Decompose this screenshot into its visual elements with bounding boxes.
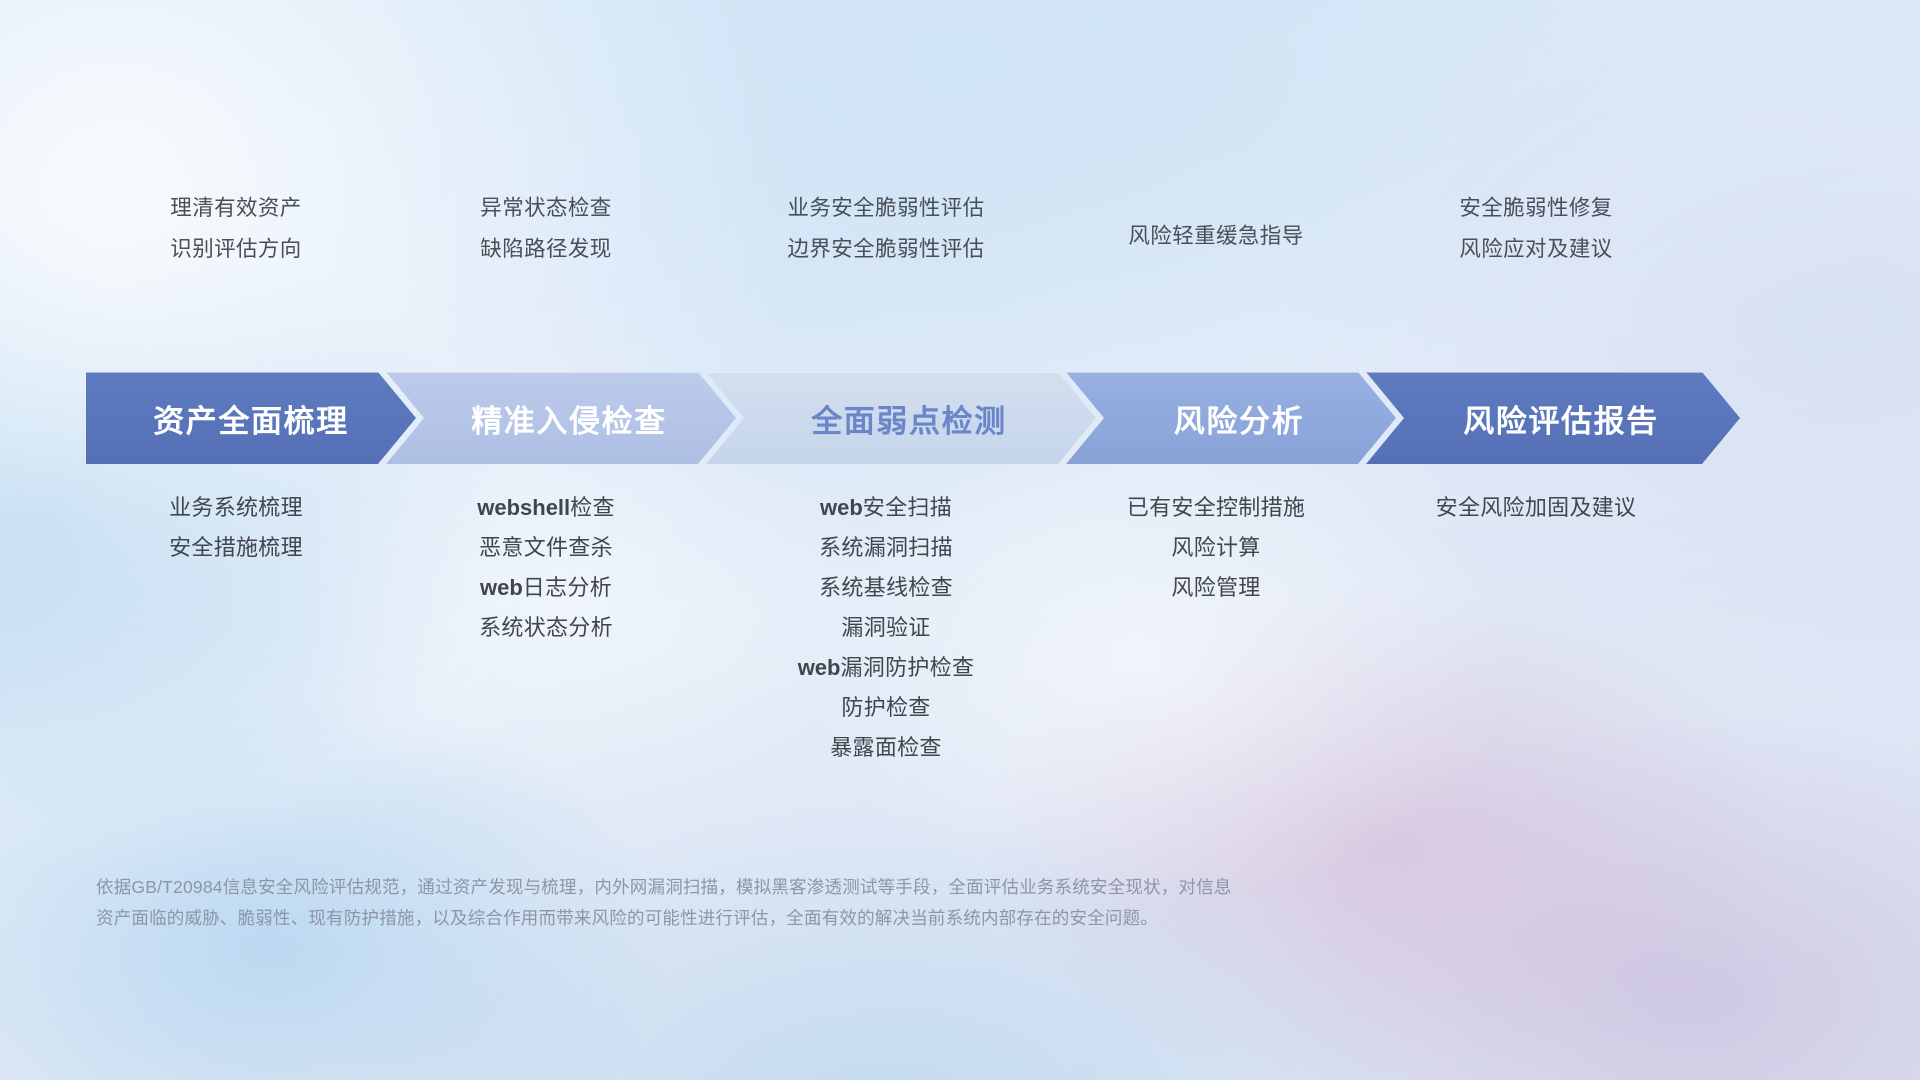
list-item-zh: 业务系统梳理 <box>169 495 303 520</box>
top-note: 缺陷路径发现 <box>386 229 706 270</box>
footer-description: 依据GB/T20984信息安全风险评估规范，通过资产发现与梳理，内外网漏洞扫描，… <box>96 872 1616 934</box>
top-note: 风险轻重缓急指导 <box>1066 216 1366 257</box>
list-item: 风险计算 <box>1066 528 1366 568</box>
list-item: web安全扫描 <box>706 488 1066 528</box>
list-item: 安全措施梳理 <box>86 528 386 568</box>
chevron-label: 风险分析 <box>1158 396 1304 441</box>
list-item-zh: 防护检查 <box>841 695 930 720</box>
chevron-intrusion-check[interactable]: 精准入侵检查 <box>386 372 736 464</box>
footer-line-2: 资产面临的威胁、脆弱性、现有防护措施，以及综合作用而带来风险的可能性进行评估，全… <box>96 903 1616 934</box>
list-item-en: web <box>798 655 841 680</box>
footer-line-1: 依据GB/T20984信息安全风险评估规范，通过资产发现与梳理，内外网漏洞扫描，… <box>96 872 1616 903</box>
list-item-zh: 安全措施梳理 <box>169 535 303 560</box>
list-item-zh: 检查 <box>570 495 615 520</box>
list-item: 已有安全控制措施 <box>1066 488 1366 528</box>
list-item-zh: 漏洞防护检查 <box>840 655 974 680</box>
list-item: 业务系统梳理 <box>86 488 386 528</box>
chevron-risk-report[interactable]: 风险评估报告 <box>1366 372 1740 464</box>
list-item: web日志分析 <box>386 568 706 608</box>
list-item-zh: 日志分析 <box>523 575 612 600</box>
list-item: 安全风险加固及建议 <box>1366 488 1706 528</box>
top-notes-risk-report: 安全脆弱性修复风险应对及建议 <box>1366 188 1706 270</box>
top-note: 边界安全脆弱性评估 <box>706 229 1066 270</box>
list-item-zh: 系统漏洞扫描 <box>819 535 953 560</box>
detail-list-risk-report: 安全风险加固及建议 <box>1366 488 1706 528</box>
list-item: 防护检查 <box>706 688 1066 728</box>
detail-list-risk-analysis: 已有安全控制措施风险计算风险管理 <box>1066 488 1366 608</box>
process-infographic: 理清有效资产识别评估方向异常状态检查缺陷路径发现业务安全脆弱性评估边界安全脆弱性… <box>0 0 1920 1080</box>
chevron-label: 资产全面梳理 <box>153 396 349 441</box>
list-item: 系统基线检查 <box>706 568 1066 608</box>
list-item-zh: 恶意文件查杀 <box>479 535 613 560</box>
list-item-zh: 暴露面检查 <box>830 735 942 760</box>
list-item-en: web <box>820 495 863 520</box>
list-item: web漏洞防护检查 <box>706 648 1066 688</box>
top-note: 安全脆弱性修复 <box>1366 188 1706 229</box>
list-item: 暴露面检查 <box>706 728 1066 768</box>
list-item: 系统漏洞扫描 <box>706 528 1066 568</box>
list-item: webshell检查 <box>386 488 706 528</box>
top-notes-intrusion-check: 异常状态检查缺陷路径发现 <box>386 188 706 270</box>
list-item-zh: 系统状态分析 <box>479 615 613 640</box>
process-chevron-band: 资产全面梳理精准入侵检查全面弱点检测风险分析风险评估报告 <box>86 372 1870 464</box>
list-item-zh: 风险计算 <box>1171 535 1260 560</box>
top-note: 业务安全脆弱性评估 <box>706 188 1066 229</box>
chevron-label: 精准入侵检查 <box>455 396 667 441</box>
list-item-en: web <box>480 575 523 600</box>
list-item-zh: 系统基线检查 <box>819 575 953 600</box>
top-note: 理清有效资产 <box>86 188 386 229</box>
list-item-zh: 漏洞验证 <box>841 615 930 640</box>
detail-list-weakness-detection: web安全扫描系统漏洞扫描系统基线检查漏洞验证web漏洞防护检查防护检查暴露面检… <box>706 488 1066 768</box>
top-note: 识别评估方向 <box>86 229 386 270</box>
list-item-zh: 安全风险加固及建议 <box>1436 495 1637 520</box>
detail-list-asset-inventory: 业务系统梳理安全措施梳理 <box>86 488 386 568</box>
stage-detail-lists-row: 业务系统梳理安全措施梳理webshell检查恶意文件查杀web日志分析系统状态分… <box>86 488 1862 768</box>
detail-list-intrusion-check: webshell检查恶意文件查杀web日志分析系统状态分析 <box>386 488 706 648</box>
top-note: 风险应对及建议 <box>1366 229 1706 270</box>
chevron-label: 全面弱点检测 <box>795 396 1007 441</box>
list-item-en: webshell <box>477 495 570 520</box>
top-note: 异常状态检查 <box>386 188 706 229</box>
list-item-zh: 安全扫描 <box>863 495 952 520</box>
top-notes-risk-analysis: 风险轻重缓急指导 <box>1066 188 1366 257</box>
chevron-label: 风险评估报告 <box>1447 396 1659 441</box>
top-notes-asset-inventory: 理清有效资产识别评估方向 <box>86 188 386 270</box>
chevron-weakness-detection[interactable]: 全面弱点检测 <box>706 372 1096 464</box>
list-item-zh: 风险管理 <box>1171 575 1260 600</box>
chevron-asset-inventory[interactable]: 资产全面梳理 <box>86 372 416 464</box>
list-item: 系统状态分析 <box>386 608 706 648</box>
list-item: 风险管理 <box>1066 568 1366 608</box>
list-item: 漏洞验证 <box>706 608 1066 648</box>
list-item: 恶意文件查杀 <box>386 528 706 568</box>
list-item-zh: 已有安全控制措施 <box>1127 495 1305 520</box>
top-notes-weakness-detection: 业务安全脆弱性评估边界安全脆弱性评估 <box>706 188 1066 270</box>
chevron-risk-analysis[interactable]: 风险分析 <box>1066 372 1396 464</box>
stage-top-notes-row: 理清有效资产识别评估方向异常状态检查缺陷路径发现业务安全脆弱性评估边界安全脆弱性… <box>86 188 1862 270</box>
